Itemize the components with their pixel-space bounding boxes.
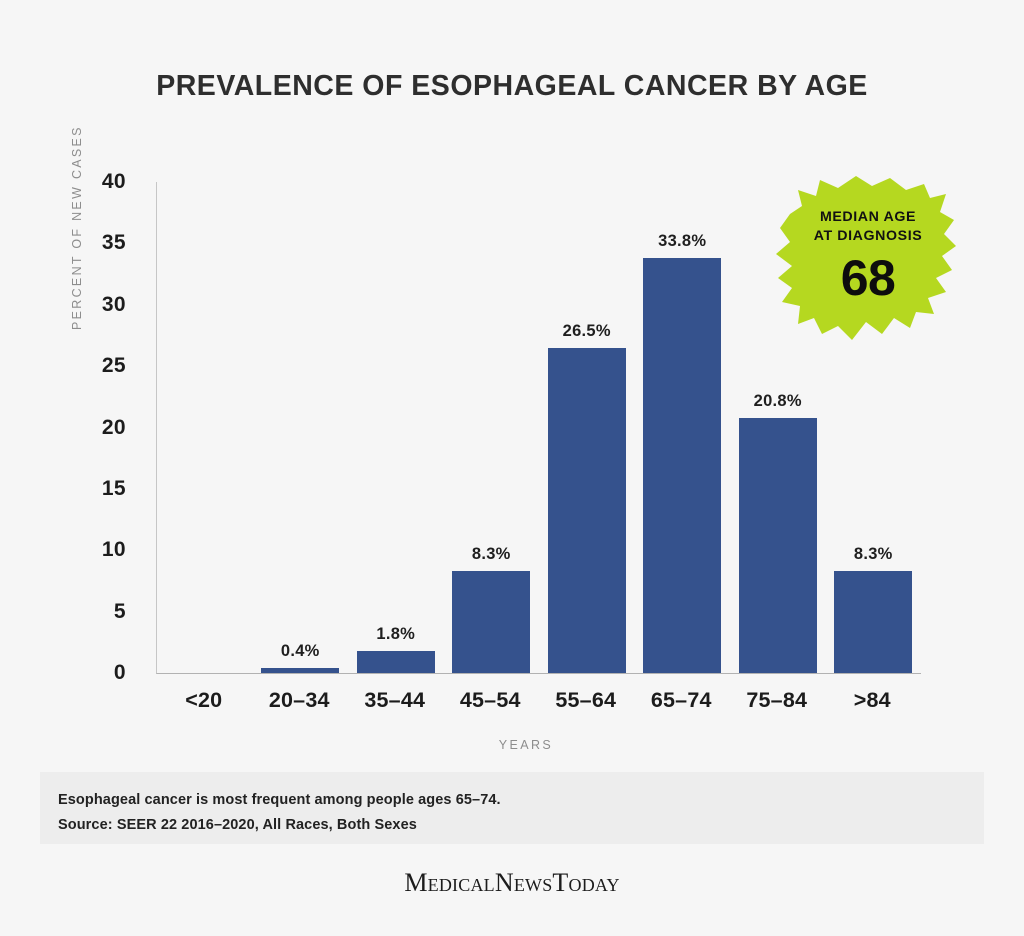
bar[interactable]	[834, 571, 912, 673]
x-axis-tick: 65–74	[634, 688, 730, 713]
x-axis-tick: 20–34	[252, 688, 348, 713]
x-axis-tick: 55–64	[538, 688, 634, 713]
bar-value-label: 26.5%	[539, 322, 635, 341]
y-axis-tick: 10	[102, 538, 126, 562]
bar[interactable]	[261, 668, 339, 673]
x-axis-tick: 75–84	[729, 688, 825, 713]
bar-group[interactable]: 1.8%	[348, 182, 444, 673]
badge-line-2: AT DIAGNOSIS	[768, 227, 968, 246]
page-title: PREVALENCE OF ESOPHAGEAL CANCER BY AGE	[0, 66, 1024, 106]
caption-source: Source: SEER 22 2016–2020, All Races, Bo…	[58, 813, 984, 838]
bar[interactable]	[357, 651, 435, 673]
bar-value-label: 8.3%	[444, 545, 540, 564]
bar-group[interactable]: 8.3%	[444, 182, 540, 673]
bar[interactable]	[643, 258, 721, 673]
y-axis-tick: 35	[102, 231, 126, 255]
bar-value-label: 20.8%	[730, 392, 826, 411]
bar-group[interactable]: 26.5%	[539, 182, 635, 673]
x-axis-title: YEARS	[156, 738, 896, 752]
x-axis-tick: <20	[156, 688, 252, 713]
bar-value-label: 33.8%	[635, 232, 731, 251]
bar-value-label: 0.4%	[253, 642, 349, 661]
y-axis-title: PERCENT OF NEW CASES	[70, 100, 84, 330]
caption-box: Esophageal cancer is most frequent among…	[40, 772, 984, 844]
bar-group[interactable]: 0.4%	[253, 182, 349, 673]
bar[interactable]	[452, 571, 530, 673]
bar-group[interactable]	[157, 182, 253, 673]
y-axis-tick: 25	[102, 354, 126, 378]
y-axis-tick: 20	[102, 416, 126, 440]
bar-value-label: 1.8%	[348, 625, 444, 644]
infographic-canvas: PREVALENCE OF ESOPHAGEAL CANCER BY AGE 0…	[0, 0, 1024, 936]
y-axis-tick: 40	[102, 170, 126, 194]
badge-median-age-value: 68	[768, 250, 968, 306]
brand-logo: MedicalNewsToday	[0, 868, 1024, 898]
x-axis-tick: 45–54	[443, 688, 539, 713]
x-axis-tick-labels: <2020–3435–4445–5455–6465–7475–84>84	[156, 688, 920, 720]
x-axis-tick: >84	[825, 688, 921, 713]
bar[interactable]	[548, 348, 626, 673]
y-axis-tick: 0	[114, 661, 126, 685]
x-axis-tick: 35–44	[347, 688, 443, 713]
median-age-badge: MEDIAN AGE AT DIAGNOSIS 68	[768, 168, 968, 360]
caption-summary: Esophageal cancer is most frequent among…	[58, 788, 984, 813]
y-axis-tick: 30	[102, 293, 126, 317]
y-axis-tick: 5	[114, 600, 126, 624]
y-axis-tick: 15	[102, 477, 126, 501]
bar[interactable]	[739, 418, 817, 673]
badge-line-1: MEDIAN AGE	[768, 208, 968, 227]
bar-value-label: 8.3%	[826, 545, 922, 564]
badge-text-block: MEDIAN AGE AT DIAGNOSIS 68	[768, 208, 968, 306]
bar-group[interactable]: 33.8%	[635, 182, 731, 673]
